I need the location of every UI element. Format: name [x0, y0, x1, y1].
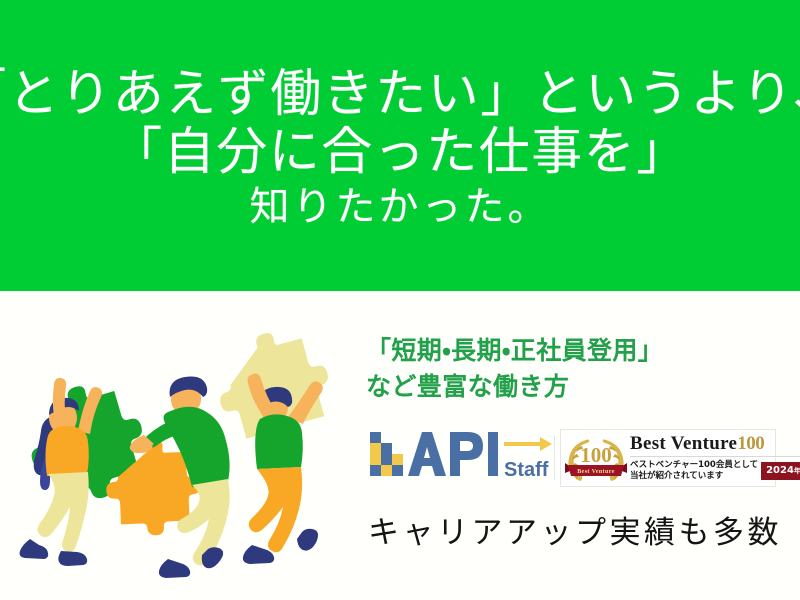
lapi-staff-logo[interactable]: Staff	[364, 428, 552, 488]
badge-title-number: 100	[737, 433, 764, 454]
badge-subtext-line-2: 当社が紹介されています	[630, 471, 758, 482]
svg-text:Best Venture: Best Venture	[577, 469, 615, 475]
promo-banner: 「とりあえず働きたい」というより、 「自分に合った仕事を」 知りたかった。	[0, 0, 800, 600]
career-tagline: キャリアアップ実績も多数	[368, 507, 782, 552]
badge-year-value: 2024	[766, 465, 794, 476]
brand-row: Staff 10	[364, 425, 794, 491]
laurel-100-emblem-icon: 100 Best Venture	[564, 432, 628, 484]
badge-title-main: Best Venture	[630, 433, 737, 454]
logo-letter-i	[488, 432, 498, 476]
brand-divider	[554, 436, 555, 480]
subheadline: 「短期・長期・正社員登用」 など豊富な働き方	[366, 333, 663, 404]
badge-sub-row: ベストベンチャー100会員として 当社が紹介されています 2024年	[630, 460, 800, 481]
badge-year-tag: 2024年	[761, 462, 800, 480]
badge-text-block: Best Venture100 ベストベンチャー100会員として 当社が紹介され…	[628, 432, 800, 484]
logo-letter-a	[408, 432, 446, 476]
logo-letter-p	[450, 432, 483, 476]
best-venture-100-badge[interactable]: 100 Best Venture Best Venture100	[560, 429, 776, 487]
puzzle-people-illustration	[16, 297, 356, 597]
lower-section: 「短期・長期・正社員登用」 など豊富な働き方	[0, 291, 800, 600]
subheadline-line-2: など豊富な働き方	[366, 369, 663, 405]
subheadline-line-1: 「短期・長期・正社員登用」	[366, 333, 663, 369]
arrow-right-icon	[504, 437, 552, 451]
hero-headline-line-1: 「とりあえず働きたい」というより、	[0, 68, 800, 122]
svg-text:100: 100	[580, 443, 612, 467]
right-content-column: 「短期・長期・正社員登用」 など豊富な働き方	[362, 291, 800, 600]
hero-headline-line-2: 「自分に合った仕事を」	[111, 126, 689, 180]
badge-subtext: ベストベンチャー100会員として 当社が紹介されています	[630, 460, 758, 481]
badge-year-suffix: 年	[794, 467, 800, 475]
logo-staff-text: Staff	[504, 459, 549, 481]
logo-letter-l-blocks	[370, 432, 403, 476]
badge-title: Best Venture100	[630, 434, 800, 457]
hero-headline-line-3: 知りたかった。	[250, 186, 551, 228]
hero-section: 「とりあえず働きたい」というより、 「自分に合った仕事を」 知りたかった。	[0, 0, 800, 291]
badge-subtext-line-1: ベストベンチャー100会員として	[630, 460, 758, 471]
